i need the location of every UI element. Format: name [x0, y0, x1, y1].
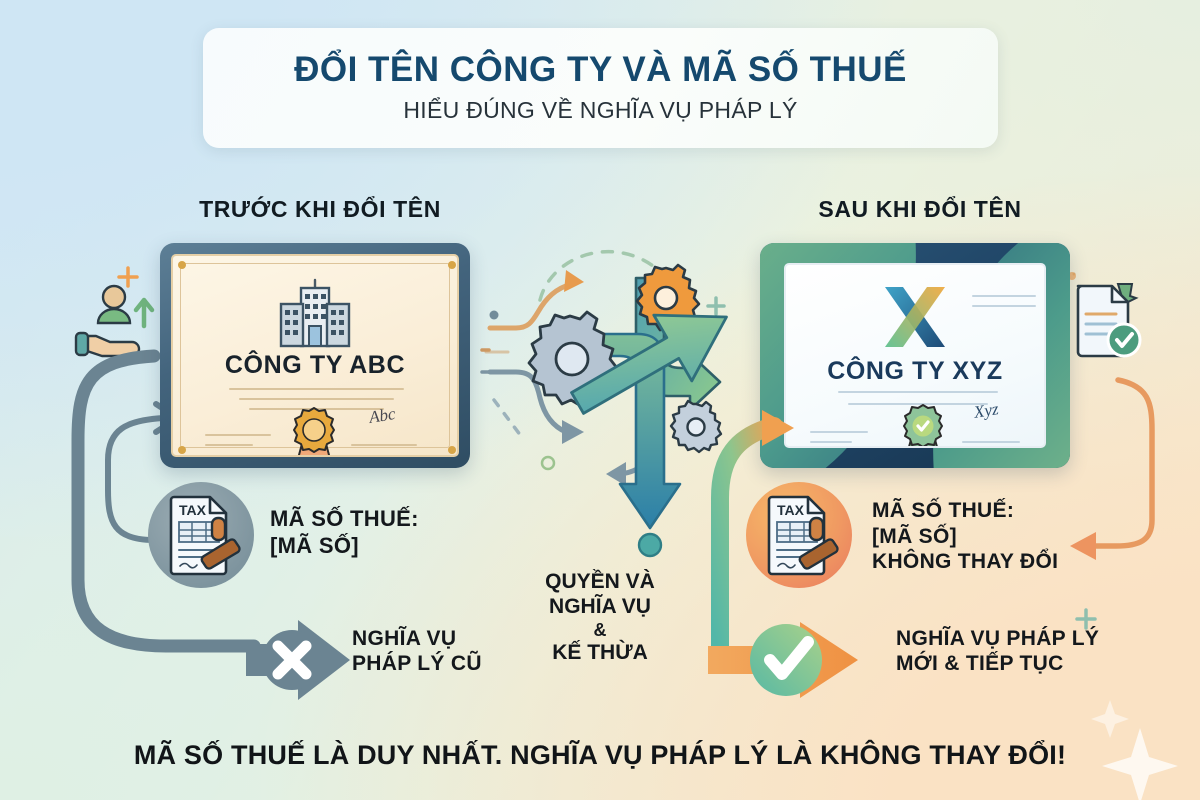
signature-after: Xyz [973, 399, 1000, 423]
heading-after: SAU KHI ĐỔI TÊN [760, 196, 1080, 223]
cert-rule [205, 434, 271, 436]
new-duty-line2: MỚI & TIẾP TỤC [896, 651, 1099, 676]
new-duty-text: NGHĨA VỤ PHÁP LÝ MỚI & TIẾP TỤC [896, 626, 1099, 676]
center-line-2: NGHĨA VỤ [505, 595, 695, 620]
center-line-4: KẾ THỪA [505, 641, 695, 666]
center-label: QUYỀN VÀ NGHĨA VỤ & KẾ THỪA [505, 570, 695, 666]
cert-rule [205, 444, 253, 446]
tax-document-before-icon: TAX [148, 482, 254, 588]
page-subtitle: HIỂU ĐÚNG VỀ NGHĨA VỤ PHÁP LÝ [403, 97, 797, 124]
heading-before: TRƯỚC KHI ĐỔI TÊN [160, 196, 480, 223]
new-duty-line1: NGHĨA VỤ PHÁP LÝ [896, 626, 1099, 651]
seal-gold-icon [281, 396, 347, 457]
old-duty-line1: NGHĨA VỤ [352, 626, 482, 651]
cert-rule [351, 444, 417, 446]
certificate-before: CÔNG TY ABC Abc [160, 243, 470, 468]
cert-rule [972, 305, 1036, 307]
document-verified-icon [1072, 282, 1150, 362]
center-line-3: & [505, 620, 695, 641]
building-icon [269, 278, 361, 350]
x-logo-icon [879, 283, 951, 351]
old-duty-text: NGHĨA VỤ PHÁP LÝ CŨ [352, 626, 482, 676]
old-duty-line2: PHÁP LÝ CŨ [352, 651, 482, 676]
tax-code-before-text: MÃ SỐ THUẾ: [MÃ SỐ] [270, 506, 419, 560]
x-mark-badge [246, 614, 356, 706]
signature-before: Abc [368, 404, 397, 428]
page-title: ĐỔI TÊN CÔNG TY VÀ MÃ SỐ THUẾ [294, 52, 907, 89]
tax-code-before-line1: MÃ SỐ THUẾ: [270, 506, 419, 533]
bottom-banner-text: MÃ SỐ THUẾ LÀ DUY NHẤT. NGHĨA VỤ PHÁP LÝ… [0, 740, 1200, 771]
company-name-before: CÔNG TY ABC [173, 351, 457, 380]
cert-rule [972, 295, 1036, 297]
title-card: ĐỔI TÊN CÔNG TY VÀ MÃ SỐ THUẾ HIỂU ĐÚNG … [203, 28, 998, 148]
check-mark-badge [742, 612, 860, 708]
rubber-stamp-icon [196, 516, 254, 572]
certificate-before-paper: CÔNG TY ABC Abc [171, 254, 459, 457]
right-return-arrow [1000, 380, 1180, 570]
center-line-1: QUYỀN VÀ [505, 570, 695, 595]
infographic-canvas: ĐỔI TÊN CÔNG TY VÀ MÃ SỐ THUẾ HIỂU ĐÚNG … [0, 0, 1200, 800]
tax-code-before-line2: [MÃ SỐ] [270, 533, 419, 560]
cert-rule [229, 388, 404, 390]
